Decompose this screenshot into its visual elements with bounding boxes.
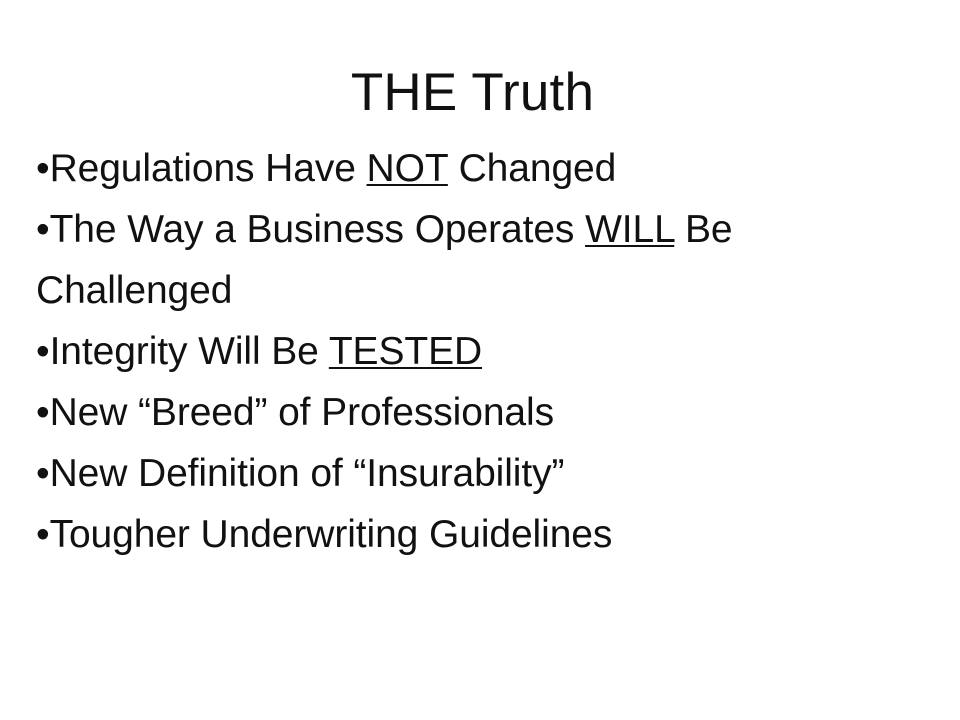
bullet-emphasis-text: NOT: [367, 147, 448, 190]
bullet-body-text: Regulations Have: [50, 147, 367, 190]
bullet-item-new-definition: •New Definition of “Insurability”: [36, 443, 926, 504]
presentation-slide: THE Truth •Regulations Have NOT Changed•…: [0, 0, 960, 720]
bullet-item-underwriting: •Tougher Underwriting Guidelines: [36, 504, 926, 565]
bullet-item-integrity: •Integrity Will Be TESTED: [36, 321, 926, 382]
bullet-body-text: New Definition of “Insurability”: [50, 452, 565, 495]
bullet-emphasis-text: TESTED: [329, 330, 482, 373]
bullet-emphasis-text: WILL: [585, 208, 674, 251]
page-title: THE Truth: [0, 62, 945, 124]
bullet-body-text: Integrity Will Be: [50, 330, 329, 373]
bullet-body-text: The Way a Business Operates: [50, 208, 586, 251]
bullet-item-regulations: •Regulations Have NOT Changed: [36, 138, 926, 199]
bullet-list: •Regulations Have NOT Changed•The Way a …: [36, 138, 926, 565]
bullet-body-text: Changed: [448, 147, 616, 190]
bullet-point-icon: •: [36, 330, 50, 373]
bullet-item-new-breed: •New “Breed” of Professionals: [36, 382, 926, 443]
bullet-point-icon: •: [36, 147, 50, 190]
bullet-item-business-operates: •The Way a Business Operates WILL Be Cha…: [36, 199, 766, 321]
bullet-point-icon: •: [36, 452, 50, 495]
bullet-body-text: Tougher Underwriting Guidelines: [50, 513, 613, 556]
bullet-point-icon: •: [36, 513, 50, 556]
bullet-point-icon: •: [36, 391, 50, 434]
bullet-point-icon: •: [36, 208, 50, 251]
bullet-body-text: New “Breed” of Professionals: [50, 391, 554, 434]
